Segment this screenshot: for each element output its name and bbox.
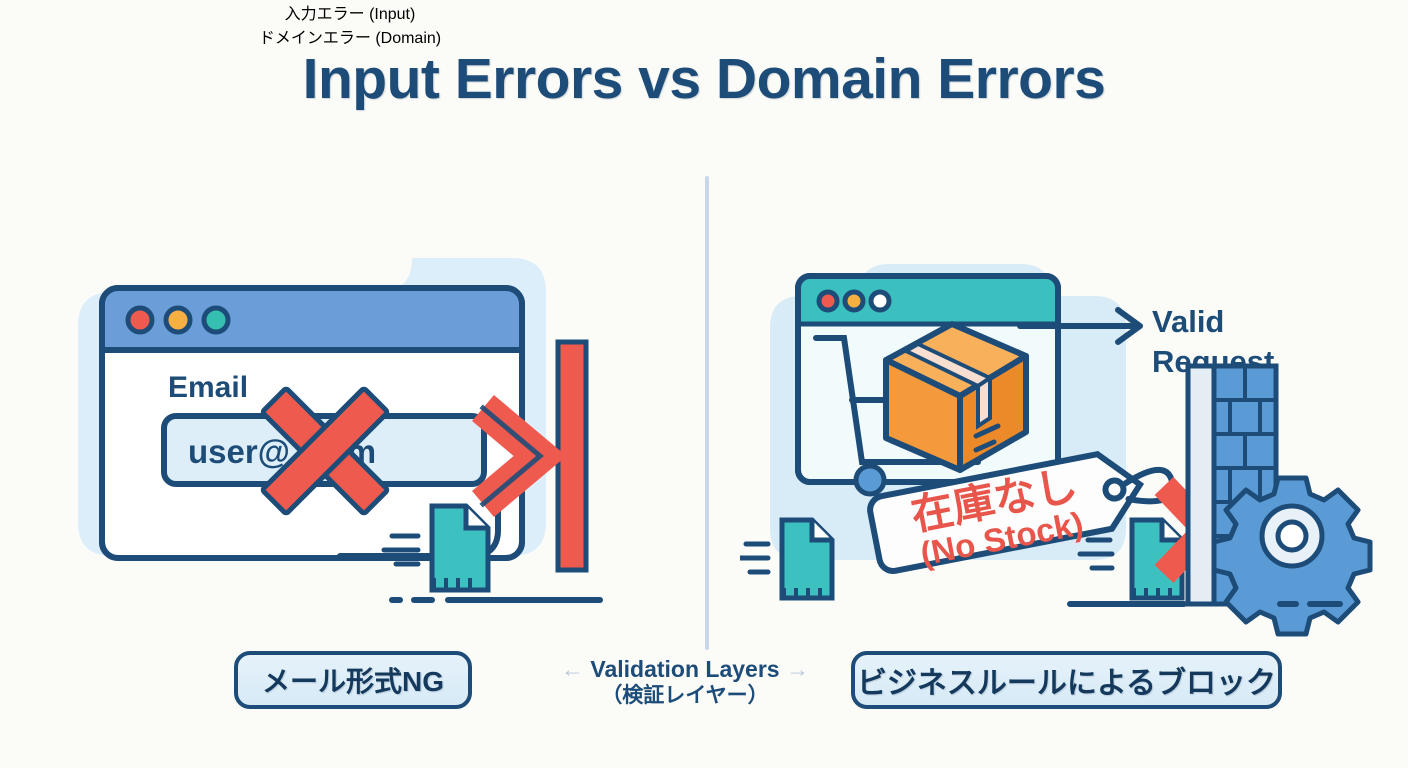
column-divider: [705, 176, 709, 650]
badge-domain-error[interactable]: ビジネスルールによるブロック: [851, 651, 1282, 709]
validation-layers-label-en: Validation Layers: [590, 656, 779, 682]
teal-document-icon: [782, 520, 832, 598]
teal-document-icon: [432, 506, 488, 590]
arrow-right-icon: →: [786, 656, 809, 682]
page-title: Input Errors vs Domain Errors: [0, 46, 1408, 112]
email-field-label: Email: [168, 371, 248, 404]
gear-icon: [1214, 478, 1370, 634]
cart-wheel: [856, 466, 884, 494]
arrow-left-icon: ←: [561, 656, 584, 682]
column-heading-input: 入力エラー (Input): [0, 0, 700, 24]
validation-layers-label-ja: （検証レイヤー）: [520, 683, 850, 709]
pillar: [1188, 366, 1214, 604]
motion-dashes: [740, 544, 768, 572]
window-traffic-lights: [128, 308, 228, 332]
window-traffic-lights: [819, 292, 889, 310]
validation-layers-caption: ← Validation Layers → （検証レイヤー）: [520, 655, 850, 709]
diagram-canvas: Input Errors vs Domain Errors 入力エラー (Inp…: [0, 0, 1408, 768]
badge-input-error[interactable]: メール形式NG: [234, 651, 472, 709]
domain-error-illustration: Valid Request 在庫なし (No Stock): [740, 248, 1380, 638]
valid-request-label-line1: Valid: [1152, 304, 1224, 339]
column-heading-domain: ドメインエラー (Domain): [0, 24, 700, 48]
input-error-illustration: Email user@..com: [40, 248, 680, 638]
